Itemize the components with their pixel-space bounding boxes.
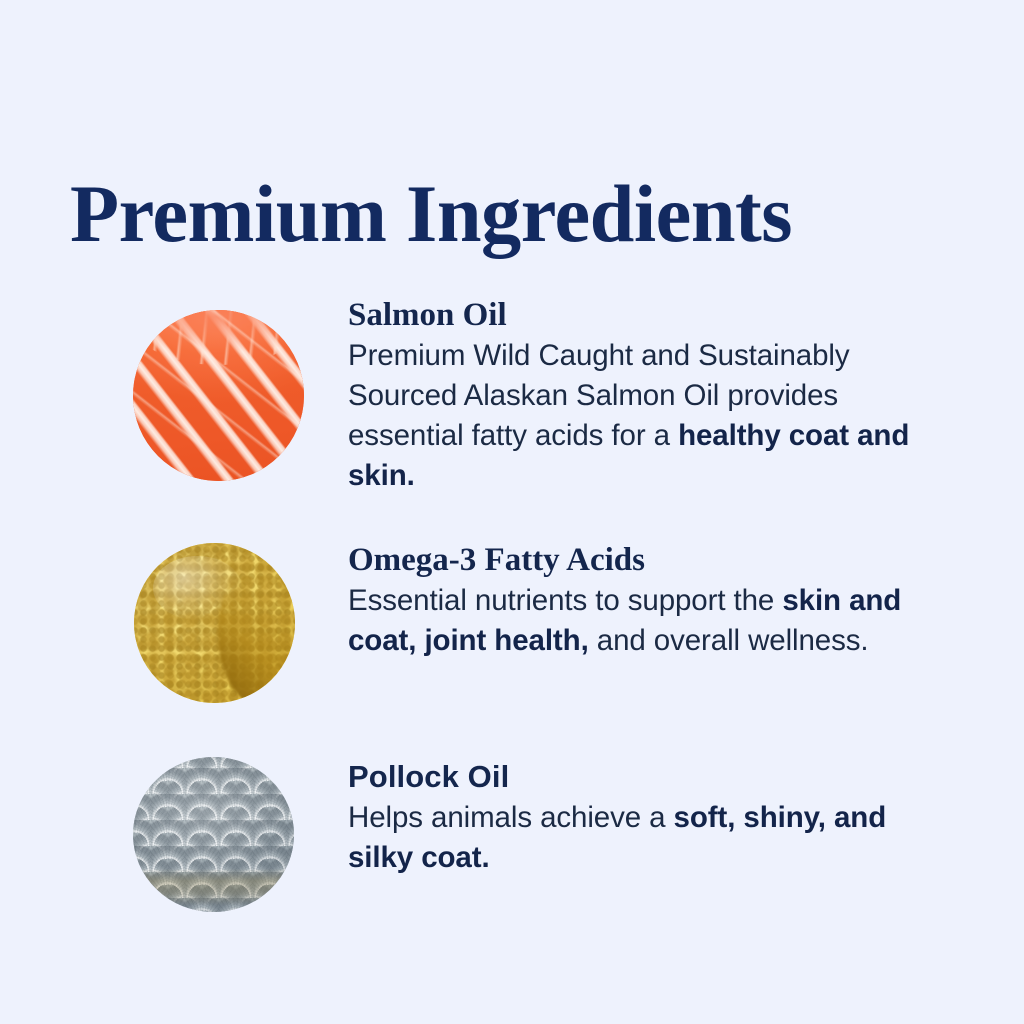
page-title: Premium Ingredients	[70, 173, 792, 255]
salmon-texture	[133, 310, 304, 481]
ingredient-text-pollock-oil: Pollock Oil Helps animals achieve a soft…	[348, 758, 948, 878]
salmon-top-striations	[133, 310, 304, 365]
premium-ingredients-panel: Premium Ingredients Salmon Oil Premium W…	[0, 0, 1024, 1024]
ingredient-text-salmon-oil: Salmon Oil Premium Wild Caught and Susta…	[348, 296, 948, 496]
oil-texture	[134, 543, 295, 703]
ingredient-description-omega-3-fatty-acids: Essential nutrients to support the skin …	[348, 581, 948, 661]
ingredient-description-salmon-oil: Premium Wild Caught and Sustainably Sour…	[348, 336, 948, 496]
desc-text-2: and overall wellness.	[589, 624, 869, 657]
ingredient-heading-omega-3-fatty-acids: Omega-3 Fatty Acids	[348, 541, 948, 579]
golden-oil-droplet-image	[134, 543, 295, 703]
fish-scales-image	[133, 757, 294, 912]
desc-text: Essential nutrients to support the	[348, 584, 782, 617]
scales-texture	[133, 757, 294, 912]
ingredient-heading-salmon-oil: Salmon Oil	[348, 296, 948, 334]
ingredient-heading-pollock-oil: Pollock Oil	[348, 758, 948, 796]
ingredient-text-omega-3-fatty-acids: Omega-3 Fatty Acids Essential nutrients …	[348, 541, 948, 661]
ingredient-description-pollock-oil: Helps animals achieve a soft, shiny, and…	[348, 798, 948, 878]
salmon-fillet-image	[133, 310, 304, 481]
desc-text: Helps animals achieve a	[348, 801, 674, 834]
scales-tint-overlay	[133, 757, 294, 912]
